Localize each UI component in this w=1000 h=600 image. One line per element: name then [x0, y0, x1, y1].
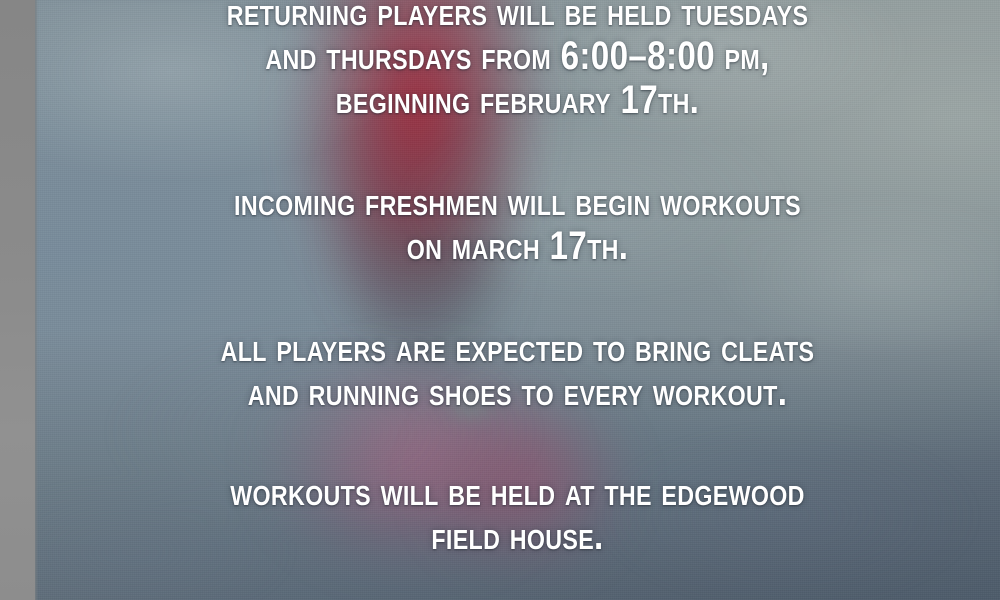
text-line: beginning February 17th. [140, 78, 894, 122]
paragraph-location: Workouts will be held at the Edgewood Fi… [63, 470, 972, 558]
paragraph-equipment-requirement: All players are expected to bring cleats… [63, 326, 972, 414]
text-line: Field House. [140, 514, 894, 558]
text-line: and Thursdays from 6:00–8:00 PM, [140, 34, 894, 78]
text-line: Returning players will be held Tuesdays [140, 0, 894, 34]
paragraph-returning-players: Returning players will be held Tuesdays … [63, 0, 972, 122]
paragraph-incoming-freshmen: Incoming freshmen will begin workouts on… [63, 180, 972, 268]
announcement-text-block: Returning players will be held Tuesdays … [35, 0, 1000, 600]
page-left-margin [0, 0, 35, 600]
text-line: and running shoes to every workout. [140, 370, 894, 414]
text-line: Incoming freshmen will begin workouts [140, 180, 894, 224]
text-line: All players are expected to bring cleats [140, 326, 894, 370]
page-margin-edge [35, 0, 38, 600]
text-line: on March 17th. [140, 224, 894, 268]
flyer-root: Returning players will be held Tuesdays … [0, 0, 1000, 600]
text-line: Workouts will be held at the Edgewood [140, 470, 894, 514]
